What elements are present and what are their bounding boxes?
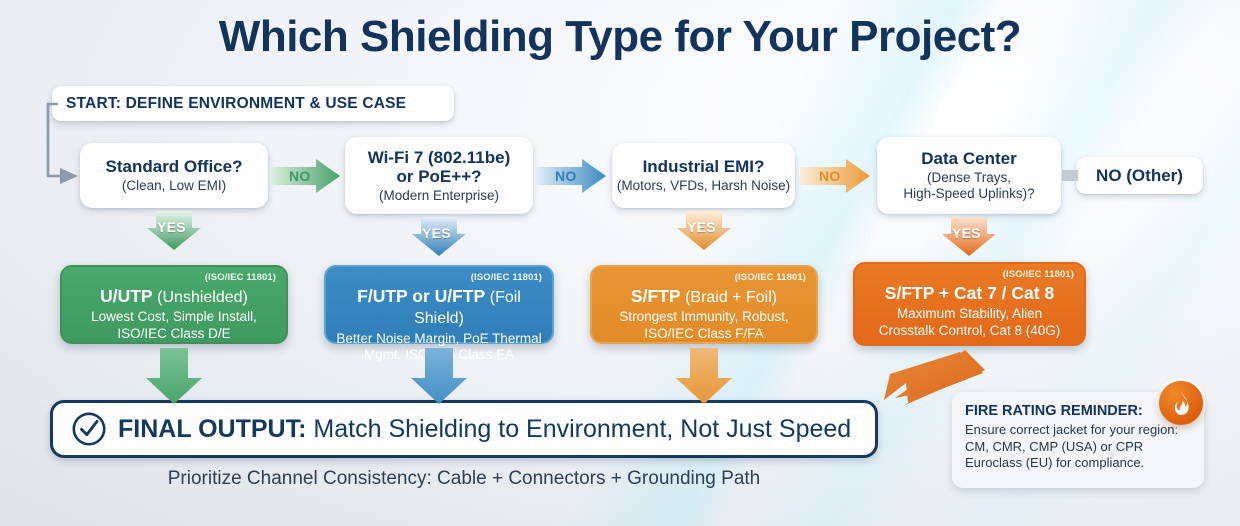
result-body-line2: Crosstalk Control, Cat 8 (40G) [865,323,1074,339]
start-label: START: DEFINE ENVIRONMENT & USE CASE [66,95,406,112]
start-node: START: DEFINE ENVIRONMENT & USE CASE [52,86,454,121]
decision-title: Industrial EMI? [643,157,765,176]
arrow-result3-to-final [676,348,732,404]
result-body-line1: Better Noise Margin, PoE Thermal [336,331,542,347]
result-body-line1: Maximum Stability, Alien [865,306,1074,322]
arrow-no-3-label: NO [819,168,841,184]
fire-line2: CM, CMR, CMP (USA) or CPR [965,439,1191,456]
fire-line1: Ensure correct jacket for your region: [965,422,1191,439]
decision-title-line1: Wi-Fi 7 (802.11be) [368,148,511,167]
result-body-line2: Mgmt, ISO/IEC Class EA [336,347,542,363]
result-body-line2: ISO/IEC Class D/E [72,326,276,342]
flame-badge [1159,381,1203,425]
decision-subtitle: (Motors, VFDs, Harsh Noise) [617,178,790,194]
decision-industrial-emi[interactable]: Industrial EMI? (Motors, VFDs, Harsh Noi… [612,143,795,208]
decision-data-center[interactable]: Data Center (Dense Trays, High-Speed Upl… [877,137,1061,214]
arrow-no-2-label: NO [555,168,577,184]
decision-subtitle-line2: High-Speed Uplinks)? [903,186,1034,202]
flame-icon [1169,390,1193,416]
arrow-result1-to-final [146,348,202,404]
final-output-label: FINAL OUTPUT: [118,415,306,444]
no-other-label: NO (Other) [1096,166,1183,185]
final-output-message: Match Shielding to Environment, Not Just… [313,415,851,444]
result-standard-tag: (ISO/IEC 11801) [205,272,276,283]
result-sftp: (ISO/IEC 11801) S/FTP (Braid + Foil) Str… [590,265,818,344]
arrow-no-1-label: NO [289,168,311,184]
result-futp-uftp: (ISO/IEC 11801) F/UTP or U/FTP (Foil Shi… [324,265,554,344]
arrow-yes-1-label: YES [157,219,186,235]
footer-note: Prioritize Channel Consistency: Cable + … [50,468,878,490]
decision-title: Data Center [921,149,1016,168]
result-name: F/UTP or U/FTP (Foil Shield) [336,286,542,329]
result-uutp: (ISO/IEC 11801) U/UTP (Unshielded) Lowes… [60,265,288,344]
result-name: U/UTP (Unshielded) [72,286,276,307]
page-title: Which Shielding Type for Your Project? [0,12,1240,62]
fire-heading: FIRE RATING REMINDER: [965,403,1191,419]
check-circle-icon [71,411,107,447]
decision-standard-office[interactable]: Standard Office? (Clean, Low EMI) [80,143,268,208]
result-body-line1: Lowest Cost, Simple Install, [72,309,276,325]
decision-title-line2: or PoE++? [396,167,481,186]
result-name: S/FTP (Braid + Foil) [602,286,806,307]
decision-subtitle-line1: (Dense Trays, [927,170,1011,186]
infographic-canvas: Which Shielding Type for Your Project? S… [0,0,1240,526]
node-no-other: NO (Other) [1076,157,1203,194]
result-sftp-cat7-cat8: (ISO/IEC 11801) S/FTP + Cat 7 / Cat 8 Ma… [853,262,1086,346]
decision-wifi7-poe[interactable]: Wi-Fi 7 (802.11be) or PoE++? (Modern Ent… [345,137,533,214]
result-name: S/FTP + Cat 7 / Cat 8 [865,283,1074,304]
decision-subtitle: (Modern Enterprise) [379,188,499,204]
decision-subtitle: (Clean, Low EMI) [122,178,226,194]
arrow-yes-2-label: YES [422,225,451,241]
fire-line3: Euroclass (EU) for compliance. [965,455,1191,472]
result-standard-tag: (ISO/IEC 11801) [471,272,542,283]
decision-title: Standard Office? [106,157,243,176]
result-standard-tag: (ISO/IEC 11801) [1003,269,1074,280]
result-standard-tag: (ISO/IEC 11801) [735,272,806,283]
result-body-line1: Strongest Immunity, Robust, [602,309,806,325]
result-body-line2: ISO/IEC Class F/FA [602,326,806,342]
final-output-banner: FINAL OUTPUT: Match Shielding to Environ… [50,400,878,458]
arrow-yes-4-label: YES [952,225,981,241]
arrow-yes-3-label: YES [687,219,716,235]
